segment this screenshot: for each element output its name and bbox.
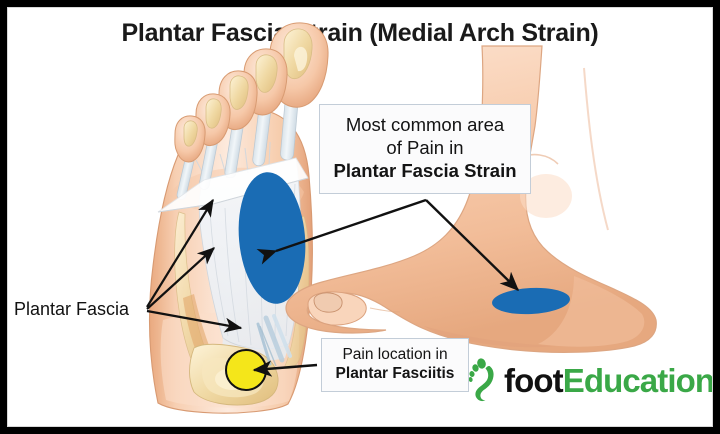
annotation-arrows [8,8,713,427]
fasciitis-arrow [254,365,317,370]
plantar-fascia-arrows [147,200,241,328]
diagram-inner-frame: Plantar Fascia Strain (Medial Arch Strai… [7,7,713,427]
pain-area-arrow [276,200,518,290]
diagram-canvas: Plantar Fascia Strain (Medial Arch Strai… [0,0,720,434]
